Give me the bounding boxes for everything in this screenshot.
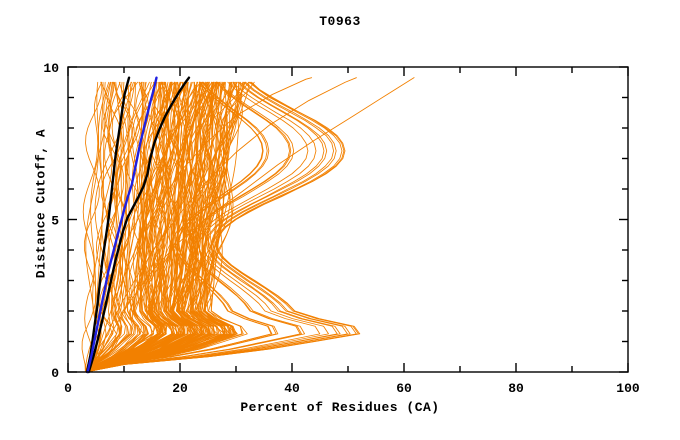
y-axis-label: Distance Cutoff, A [34, 84, 49, 324]
y-tick-label: 10 [43, 61, 59, 76]
x-tick-label: 20 [172, 381, 188, 396]
y-tick-label: 5 [51, 214, 59, 229]
plot-area: 0204060801000510 [0, 0, 680, 440]
x-tick-label: 60 [396, 381, 412, 396]
x-tick-label: 0 [64, 381, 72, 396]
x-tick-label: 40 [284, 381, 300, 396]
curves-layer [82, 78, 414, 372]
x-tick-label: 100 [616, 381, 640, 396]
y-tick-label: 0 [51, 366, 59, 381]
x-tick-label: 80 [508, 381, 524, 396]
ensemble-curve [85, 82, 120, 372]
x-axis-label: Percent of Residues (CA) [0, 400, 680, 415]
chart-figure: T0963 0204060801000510 Percent of Residu… [0, 0, 680, 440]
